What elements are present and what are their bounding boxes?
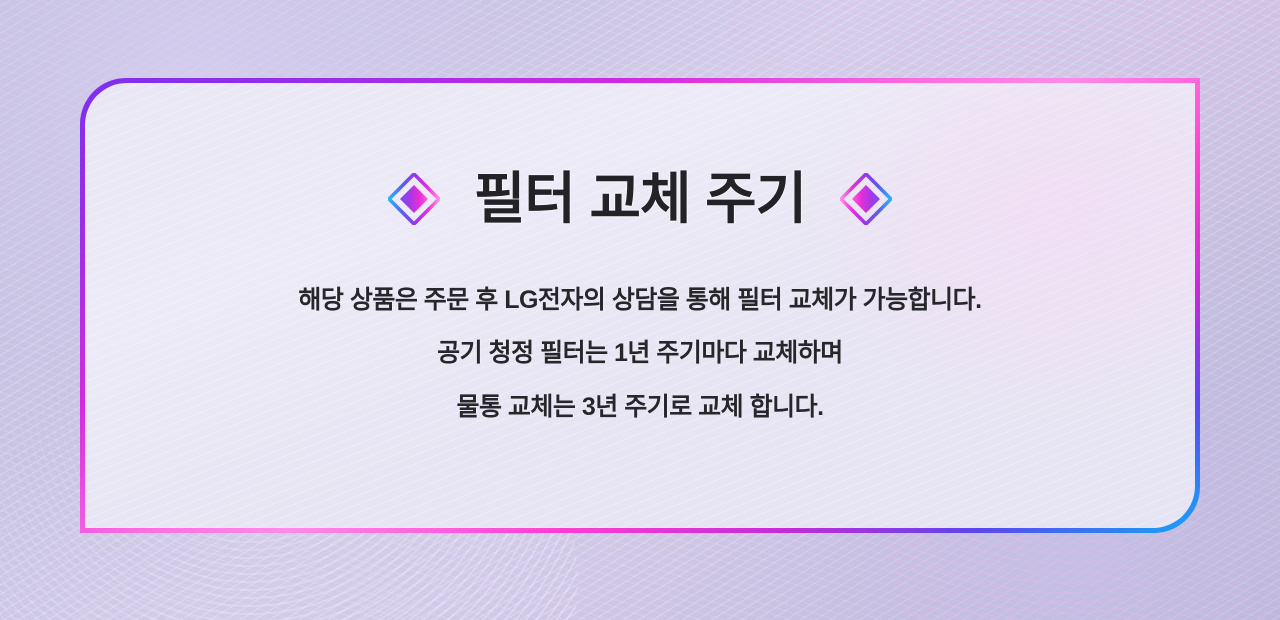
diamond-gradient-icon-left — [388, 173, 440, 225]
page-title: 필터 교체 주기 — [474, 171, 806, 227]
info-panel: 필터 교체 주기 — [80, 78, 1200, 533]
description-line-2: 공기 청정 필터는 1년 주기마다 교체하며 — [437, 338, 843, 369]
panel-gradient-border: 필터 교체 주기 — [80, 78, 1200, 533]
panel-content: 필터 교체 주기 — [85, 83, 1195, 528]
promo-banner: 필터 교체 주기 — [0, 0, 1280, 620]
description-line-1: 해당 상품은 주문 후 LG전자의 상담을 통해 필터 교체가 가능합니다. — [298, 285, 981, 316]
diamond-gradient-icon-right — [840, 173, 892, 225]
description-line-3: 물통 교체는 3년 주기로 교체 합니다. — [456, 392, 823, 423]
description-block: 해당 상품은 주문 후 LG전자의 상담을 통해 필터 교체가 가능합니다. 공… — [298, 285, 981, 423]
panel-surface: 필터 교체 주기 — [85, 83, 1195, 528]
title-row: 필터 교체 주기 — [388, 171, 892, 227]
